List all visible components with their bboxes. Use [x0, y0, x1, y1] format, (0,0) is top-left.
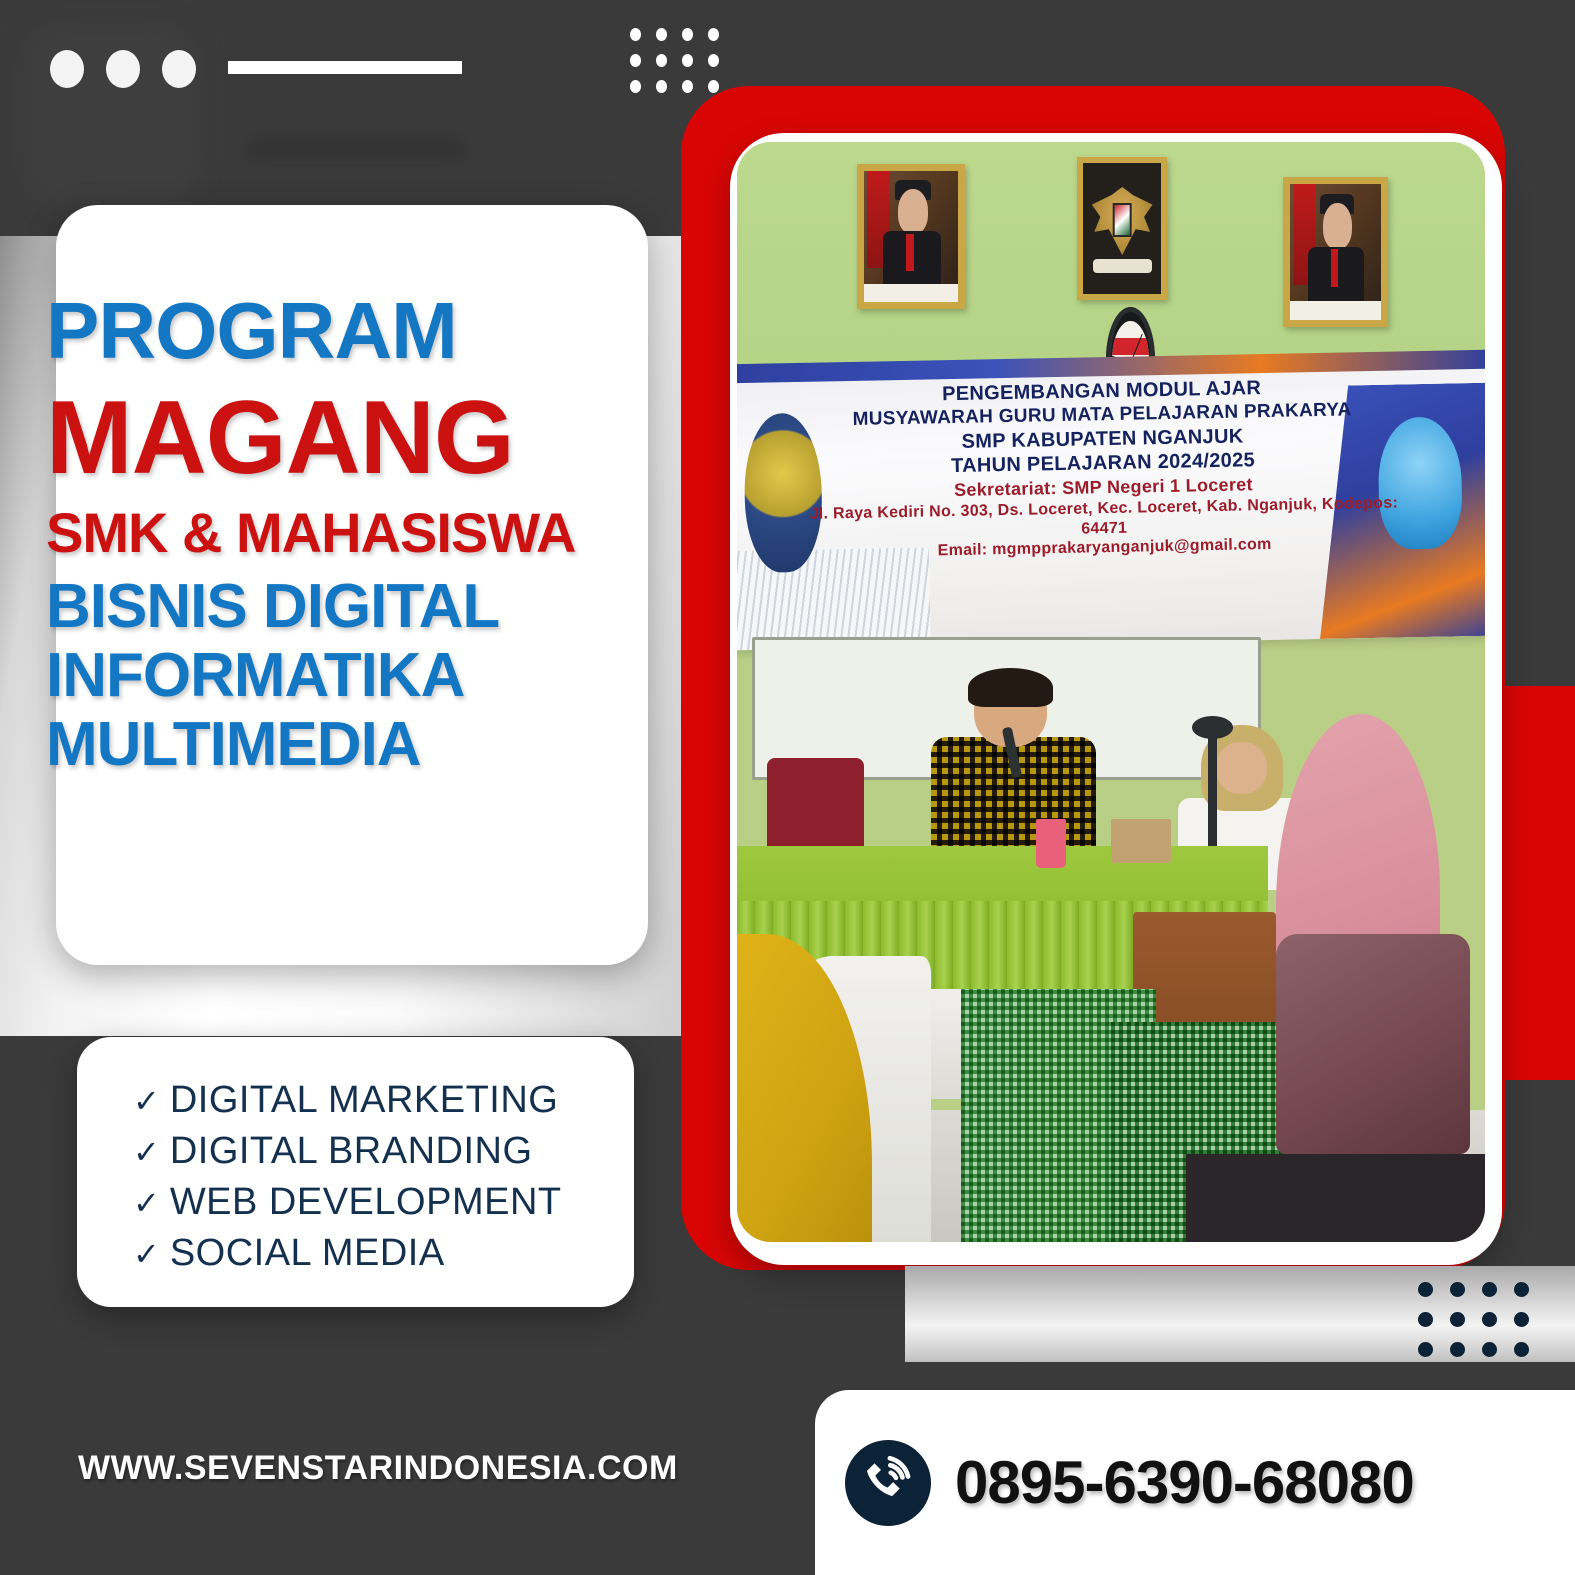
phone-number[interactable]: 0895-6390-68080 — [955, 1448, 1414, 1517]
bottom-dot-grid-icon — [1418, 1282, 1546, 1372]
phone-ringing-icon — [845, 1440, 931, 1526]
foreground-shadow — [1186, 1154, 1485, 1242]
features-card: ✓ DIGITAL MARKETING ✓ DIGITAL BRANDING ✓… — [77, 1037, 634, 1307]
contact-card: 0895-6390-68080 — [815, 1390, 1575, 1575]
list-item: ✓ WEB DEVELOPMENT — [133, 1181, 634, 1224]
presidential-portrait-icon — [857, 164, 965, 309]
top-circles-decoration — [50, 50, 196, 88]
cardboard-box — [1111, 819, 1171, 863]
event-photo: PENGEMBANGAN MODUL AJAR MUSYAWARAH GURU … — [737, 142, 1485, 1242]
check-icon: ✓ — [133, 1187, 160, 1219]
drink-cup — [1036, 819, 1066, 869]
feature-label: SOCIAL MEDIA — [170, 1232, 445, 1275]
speaker-person — [931, 676, 1096, 874]
feature-label: WEB DEVELOPMENT — [170, 1181, 562, 1224]
circle-dot-2 — [106, 50, 140, 88]
headline-line-magang: MAGANG — [46, 388, 686, 490]
check-icon: ✓ — [133, 1238, 160, 1270]
list-item: ✓ SOCIAL MEDIA — [133, 1232, 634, 1275]
top-white-bar-decoration — [228, 61, 462, 74]
background-ghost-bar — [250, 138, 462, 160]
check-icon: ✓ — [133, 1136, 160, 1168]
feature-label: DIGITAL BRANDING — [170, 1130, 533, 1173]
list-item: ✓ DIGITAL BRANDING — [133, 1130, 634, 1173]
garuda-pancasila-emblem-icon — [1077, 157, 1167, 300]
circle-dot-1 — [50, 50, 84, 88]
headline-text-block: PROGRAM MAGANG SMK & MAHASISWA BISNIS DI… — [46, 292, 686, 775]
poster-canvas: PROGRAM MAGANG SMK & MAHASISWA BISNIS DI… — [0, 0, 1575, 1575]
circle-dot-3 — [162, 50, 196, 88]
headline-line-bisnis: BISNIS DIGITAL — [46, 577, 686, 638]
event-banner: PENGEMBANGAN MODUL AJAR MUSYAWARAH GURU … — [737, 360, 1485, 650]
headline-line-multimedia: MULTIMEDIA — [46, 715, 686, 776]
website-url[interactable]: WWW.SEVENSTARINDONESIA.COM — [78, 1449, 778, 1488]
headline-line-program: PROGRAM — [46, 292, 686, 370]
headline-line-informatika: INFORMATIKA — [46, 646, 686, 707]
vice-presidential-portrait-icon — [1283, 177, 1388, 327]
red-chair — [767, 758, 864, 857]
banner-text-block: PENGEMBANGAN MODUL AJAR MUSYAWARAH GURU … — [803, 373, 1401, 563]
feature-label: DIGITAL MARKETING — [170, 1079, 559, 1122]
check-icon: ✓ — [133, 1085, 160, 1117]
right-red-accent-bar — [1504, 686, 1575, 1080]
headline-line-smk: SMK & MAHASISWA — [46, 506, 686, 561]
list-item: ✓ DIGITAL MARKETING — [133, 1079, 634, 1122]
backpack — [1276, 934, 1470, 1154]
